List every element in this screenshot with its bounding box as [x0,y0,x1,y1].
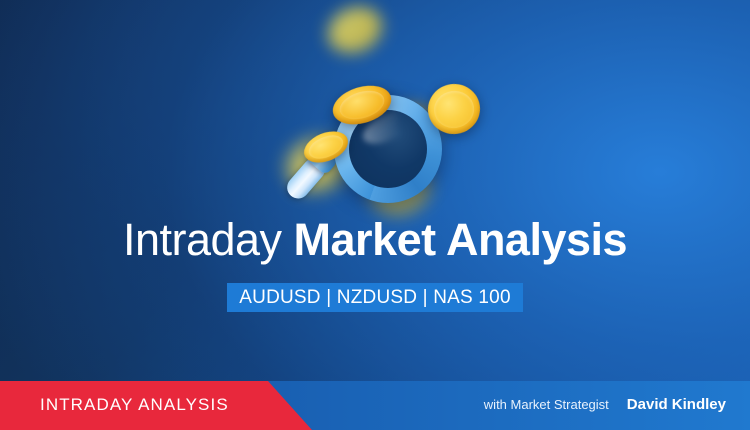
author-name: David Kindley [627,396,726,413]
bottom-bar: INTRADAY ANALYSIS with Market Strategist… [0,381,750,430]
marketing-banner: Intraday Market Analysis AUDUSD | NZDUSD… [0,0,750,430]
instrument-badge: AUDUSD | NZDUSD | NAS 100 [227,283,523,312]
author-credit: with Market Strategist David Kindley [484,396,726,413]
author-role-label: with Market Strategist [484,397,609,412]
gold-coin-icon [320,0,389,61]
page-title-bold: Market Analysis [294,214,628,265]
category-label: INTRADAY ANALYSIS [40,395,229,415]
instrument-badge-label: AUDUSD | NZDUSD | NAS 100 [239,287,510,309]
page-title: Intraday Market Analysis [0,217,750,262]
page-title-light: Intraday [123,214,294,265]
gold-coin-icon [425,81,483,138]
